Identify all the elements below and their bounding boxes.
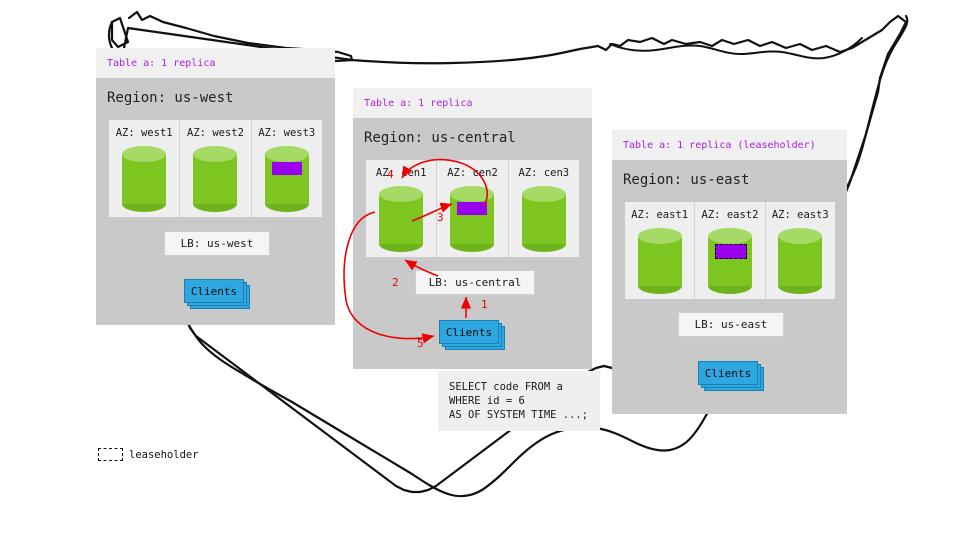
flow-label-2: 2 (392, 276, 399, 289)
legend-label: leaseholder (129, 449, 199, 461)
node-cylinder[interactable] (450, 186, 494, 252)
az-container-us-east: AZ: east1 AZ: east2 AZ: east3 (625, 202, 835, 299)
cylinder-top (522, 186, 566, 202)
node-cylinder[interactable] (638, 228, 682, 294)
az-container-us-central: AZ: cen1 AZ: cen2 AZ: cen3 (366, 160, 579, 257)
cylinder-top (379, 186, 423, 202)
flow-label-3: 3 (437, 211, 444, 224)
cylinder-top (778, 228, 822, 244)
flow-label-1: 1 (481, 298, 488, 311)
clients-label: Clients (184, 279, 244, 303)
replica-marker-west3[interactable] (272, 162, 302, 175)
az-east3[interactable]: AZ: east3 (766, 202, 835, 299)
az-west3[interactable]: AZ: west3 (252, 120, 322, 217)
flow-label-4: 4 (387, 168, 394, 181)
replica-header-label: Table a: 1 replica (353, 98, 472, 109)
node-cylinder[interactable] (122, 146, 166, 212)
diagram-canvas: Table a: 1 replica Region: us-west AZ: w… (0, 0, 960, 540)
cylinder-top (638, 228, 682, 244)
az-cen1[interactable]: AZ: cen1 (366, 160, 437, 257)
region-title-us-central: Region: us-central (364, 130, 516, 146)
legend: leaseholder (98, 448, 199, 461)
az-label: AZ: east3 (772, 209, 829, 221)
az-label: AZ: west1 (116, 127, 173, 139)
replica-header-label: Table a: 1 replica (leaseholder) (612, 140, 816, 151)
az-cen2[interactable]: AZ: cen2 (437, 160, 508, 257)
cylinder-top (265, 146, 309, 162)
flow-label-5: 5 (417, 337, 424, 350)
region-panel-us-east: Table a: 1 replica (leaseholder) Region:… (612, 130, 847, 414)
sql-statement-box: SELECT code FROM a WHERE id = 6 AS OF SY… (438, 371, 600, 431)
region-header-us-east: Table a: 1 replica (leaseholder) (612, 130, 847, 160)
az-cen3[interactable]: AZ: cen3 (509, 160, 579, 257)
az-label: AZ: east2 (702, 209, 759, 221)
node-cylinder[interactable] (265, 146, 309, 212)
az-west2[interactable]: AZ: west2 (180, 120, 251, 217)
clients-us-west[interactable]: Clients (184, 279, 244, 303)
az-east2[interactable]: AZ: east2 (695, 202, 765, 299)
clients-label: Clients (439, 320, 499, 344)
az-label: AZ: east1 (631, 209, 688, 221)
node-cylinder[interactable] (379, 186, 423, 252)
region-panel-us-central: Table a: 1 replica Region: us-central AZ… (353, 88, 592, 369)
az-label: AZ: cen3 (519, 167, 570, 179)
region-title-us-east: Region: us-east (623, 172, 749, 188)
node-cylinder[interactable] (193, 146, 237, 212)
load-balancer-us-east[interactable]: LB: us-east (678, 312, 784, 337)
leaseholder-swatch-icon (98, 448, 123, 461)
replica-header-label: Table a: 1 replica (96, 58, 215, 69)
replica-marker-east2-leaseholder[interactable] (715, 244, 747, 259)
az-container-us-west: AZ: west1 AZ: west2 AZ: west3 (109, 120, 322, 217)
cylinder-top (708, 228, 752, 244)
replica-marker-cen2[interactable] (457, 202, 487, 215)
az-label: AZ: cen1 (376, 167, 427, 179)
region-header-us-west: Table a: 1 replica (96, 48, 335, 78)
load-balancer-us-central[interactable]: LB: us-central (415, 270, 535, 295)
az-east1[interactable]: AZ: east1 (625, 202, 695, 299)
cylinder-top (122, 146, 166, 162)
clients-us-east[interactable]: Clients (698, 361, 758, 385)
region-header-us-central: Table a: 1 replica (353, 88, 592, 118)
clients-us-central[interactable]: Clients (439, 320, 499, 344)
node-cylinder[interactable] (708, 228, 752, 294)
az-label: AZ: west2 (187, 127, 244, 139)
node-cylinder[interactable] (522, 186, 566, 252)
load-balancer-us-west[interactable]: LB: us-west (164, 231, 270, 256)
node-cylinder[interactable] (778, 228, 822, 294)
clients-label: Clients (698, 361, 758, 385)
region-panel-us-west: Table a: 1 replica Region: us-west AZ: w… (96, 48, 335, 325)
region-title-us-west: Region: us-west (107, 90, 233, 106)
az-label: AZ: west3 (258, 127, 315, 139)
az-label: AZ: cen2 (447, 167, 498, 179)
az-west1[interactable]: AZ: west1 (109, 120, 180, 217)
